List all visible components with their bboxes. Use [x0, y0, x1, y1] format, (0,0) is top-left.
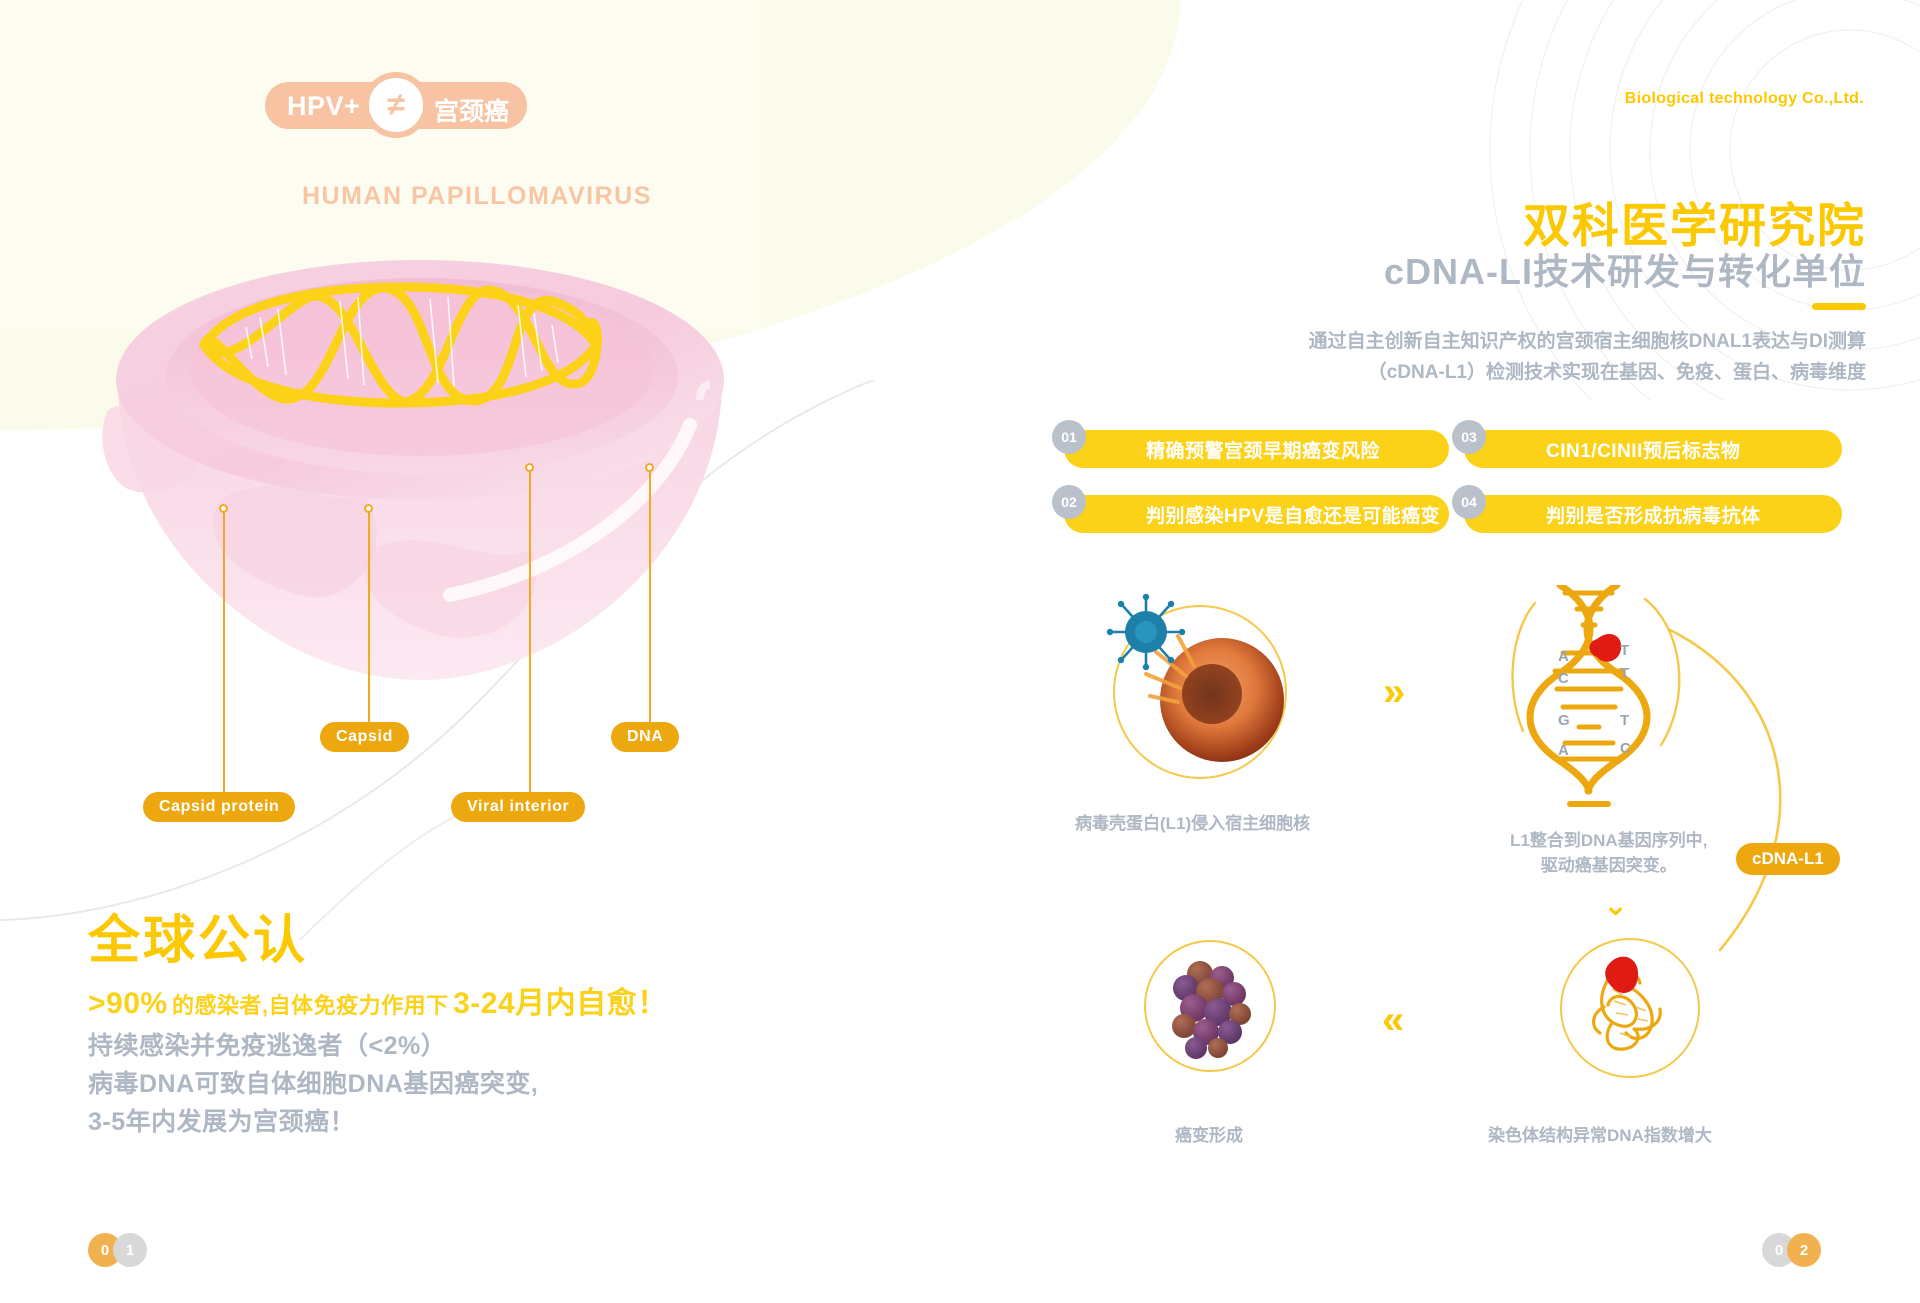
page-left-digit-2: 1 — [113, 1233, 147, 1267]
label-capsid-protein[interactable]: Capsid protein — [143, 792, 295, 822]
label-viral-interior[interactable]: Viral interior — [451, 792, 585, 822]
chevron-right-icon: » — [1383, 672, 1405, 712]
leader-line-viral-interior — [529, 471, 531, 792]
hpv-positive-label: HPV+ — [287, 91, 360, 122]
gray-copy-line-1: 持续感染并免疫逃逸者（<2%） — [88, 1027, 538, 1065]
leader-dot-viral-interior — [525, 463, 534, 472]
feature-label-01: 精确预警宫颈早期癌变风险 — [1064, 436, 1380, 463]
paragraph-line-2: （cDNA-L1）检测技术实现在基因、免疫、蛋白、病毒维度 — [1286, 358, 1866, 389]
brand-english-name: Biological technology Co.,Ltd. — [1625, 90, 1864, 108]
feature-number-02: 02 — [1052, 485, 1086, 519]
flow-caption-dna-integration: L1整合到DNA基因序列中, 驱动癌基因突变。 — [1510, 829, 1707, 878]
abnormal-chromosome-illustration — [1568, 945, 1698, 1075]
tumor-mass-illustration — [1160, 952, 1266, 1062]
dna-base-right-2: T — [1620, 665, 1629, 682]
dna-base-left-1: A — [1558, 648, 1569, 665]
page-right-digit-2: 2 — [1787, 1233, 1821, 1267]
flow-caption-chromosome: 染色体结构异常DNA指数增大 — [1488, 1124, 1712, 1149]
leader-line-capsid-protein — [223, 512, 225, 792]
leader-dot-capsid — [364, 504, 373, 513]
institute-paragraph: 通过自主创新自主知识产权的宫颈宿主细胞核DNAL1表达与DI测算 （cDNA-L… — [1286, 327, 1866, 389]
cervical-cancer-label: 宫颈癌 — [434, 92, 509, 128]
dna-double-helix-illustration — [1505, 585, 1755, 815]
hpv-subtitle: HUMAN PAPILLOMAVIRUS — [302, 182, 652, 211]
leader-line-capsid — [368, 512, 370, 722]
feature-number-04: 04 — [1452, 485, 1486, 519]
dna-base-right-4: C — [1620, 740, 1631, 757]
leader-dot-capsid-protein — [219, 504, 228, 513]
feature-pill-01[interactable]: 01 精确预警宫颈早期癌变风险 — [1064, 430, 1449, 468]
infographic-page: HPV+ 宫颈癌 ≠ HUMAN PAPILLOMAVIRUS Biologic… — [0, 0, 1920, 1303]
stat-duration: 3-24月内自愈！ — [453, 987, 668, 1020]
feature-pill-02[interactable]: 02 判别感染HPV是自愈还是可能癌变 — [1064, 495, 1449, 533]
global-consensus-title: 全球公认 — [88, 898, 308, 973]
chevron-left-icon: « — [1382, 1000, 1404, 1040]
feature-number-03: 03 — [1452, 420, 1486, 454]
feature-number-01: 01 — [1052, 420, 1086, 454]
paragraph-line-1: 通过自主创新自主知识产权的宫颈宿主细胞核DNAL1表达与DI测算 — [1286, 327, 1866, 358]
title-underline-rule — [1812, 303, 1866, 310]
feature-label-04: 判别是否形成抗病毒抗体 — [1464, 501, 1761, 528]
dna-base-left-4: A — [1558, 742, 1569, 759]
page-number-right: 0 2 — [1762, 1233, 1832, 1267]
stat-middle-text: 的感染者,自体免疫力作用下 — [172, 993, 449, 1018]
chevron-down-icon: ⌄ — [1603, 891, 1628, 921]
flow-caption-virus-entry: 病毒壳蛋白(L1)侵入宿主细胞核 — [1075, 812, 1310, 837]
leader-dot-dna — [645, 463, 654, 472]
feature-label-03: CIN1/CINII预后标志物 — [1464, 436, 1740, 463]
page-number-left: 0 1 — [88, 1233, 158, 1267]
label-capsid[interactable]: Capsid — [320, 722, 409, 752]
feature-pill-03[interactable]: 03 CIN1/CINII预后标志物 — [1464, 430, 1842, 468]
self-healing-stat-line: >90% 的感染者,自体免疫力作用下 3-24月内自愈！ — [88, 978, 668, 1022]
dna-base-left-3: G — [1558, 712, 1570, 729]
circular-dna-plasmid — [190, 275, 610, 415]
virus-entering-nucleus-illustration — [1100, 590, 1310, 795]
dna-base-right-3: T — [1620, 712, 1629, 729]
institute-subtitle: cDNA-LI技术研发与转化单位 — [1384, 243, 1866, 295]
not-equal-icon: ≠ — [363, 72, 429, 138]
dna-caption-line-2: 驱动癌基因突变。 — [1510, 854, 1707, 879]
dna-base-left-2: C — [1558, 670, 1569, 687]
leader-line-dna — [649, 471, 651, 722]
gray-copy-line-3: 3-5年内发展为宫颈癌！ — [88, 1103, 538, 1141]
gray-copy-line-2: 病毒DNA可致自体细胞DNA基因癌突变, — [88, 1065, 538, 1103]
cdna-l1-badge[interactable]: cDNA-L1 — [1736, 843, 1840, 875]
dna-base-right-1: T — [1620, 642, 1629, 659]
not-equal-glyph: ≠ — [387, 88, 405, 120]
persistent-infection-copy: 持续感染并免疫逃逸者（<2%） 病毒DNA可致自体细胞DNA基因癌突变, 3-5… — [88, 1027, 538, 1141]
label-dna[interactable]: DNA — [611, 722, 679, 752]
feature-pill-04[interactable]: 04 判别是否形成抗病毒抗体 — [1464, 495, 1842, 533]
feature-label-02: 判别感染HPV是自愈还是可能癌变 — [1064, 501, 1440, 528]
stat-percentage: >90% — [88, 987, 168, 1020]
dna-caption-line-1: L1整合到DNA基因序列中, — [1510, 829, 1707, 854]
flow-caption-tumor: 癌变形成 — [1175, 1124, 1243, 1149]
